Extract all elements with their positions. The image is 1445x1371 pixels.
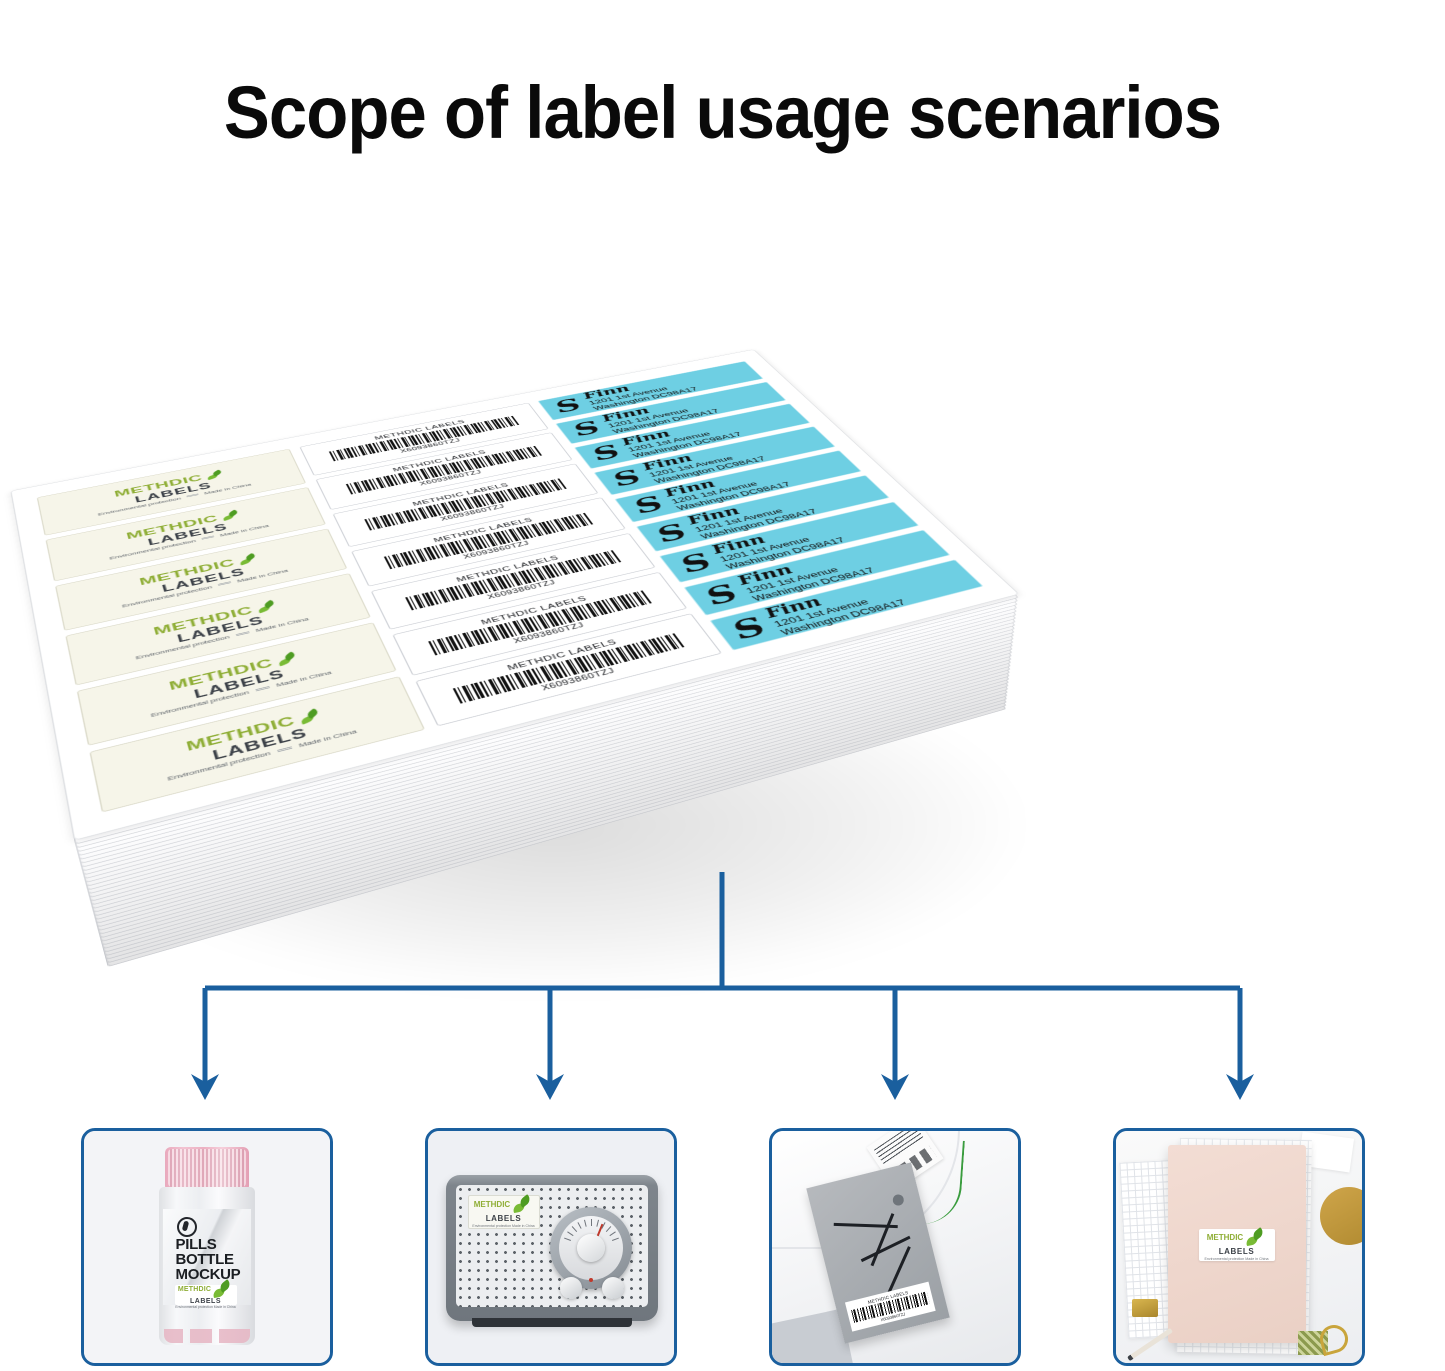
bottle-text-line2: BOTTLE (176, 1252, 241, 1267)
dial-tick (583, 1220, 586, 1227)
sticker-footnote: Environmental protection Made in China (1205, 1257, 1269, 1261)
radio-speaker-grille: METHDIC LABELS Environmental protection … (456, 1185, 648, 1307)
monogram-icon: S (608, 467, 647, 489)
dial-tick (564, 1238, 571, 1241)
bottle-text-line3: MOCKUP (176, 1267, 241, 1282)
sticker-brand-row: METHDIC (474, 1197, 533, 1213)
bottle-cap (165, 1147, 249, 1189)
card-notebook[interactable]: METHDIC LABELS Environmental protection … (1113, 1128, 1365, 1366)
dial-tick (571, 1226, 576, 1232)
label-sheet-stack: METHDICLABELSEnvironmental protectionMad… (0, 230, 1445, 890)
monogram-icon: S (551, 397, 587, 416)
radio-methdic-sticker: METHDIC LABELS Environmental protection … (468, 1195, 540, 1229)
sticker-footnote: Environmental protection Made in China (472, 1224, 534, 1228)
dial-led-icon (589, 1278, 593, 1282)
radio-knob-right (602, 1277, 624, 1299)
leaf-icon (275, 652, 301, 667)
divider-icon (277, 746, 292, 752)
leaf-icon (220, 510, 243, 521)
dial-knob (577, 1234, 605, 1262)
leaf-icon (1246, 1230, 1266, 1246)
monogram-icon: S (588, 443, 626, 464)
bottle-text-line1: PILLS (176, 1237, 241, 1252)
card-retro-radio[interactable]: METHDIC LABELS Environmental protection … (425, 1128, 677, 1366)
radio-tuning-dial (550, 1207, 632, 1289)
page-title: Scope of label usage scenarios (51, 72, 1395, 154)
divider-icon (255, 686, 270, 692)
bottle-product-text: PILLS BOTTLE MOCKUP (176, 1237, 241, 1282)
dial-tick (609, 1231, 615, 1236)
pencil-sharpener (1132, 1299, 1158, 1317)
monogram-icon: S (629, 493, 669, 516)
sticker-footnote: Environmental protection Made in China (175, 1305, 235, 1309)
radio-foot (472, 1318, 632, 1327)
sticker-brand: METHDIC (178, 1286, 211, 1293)
connector-svg (0, 860, 1445, 1130)
dial-tick (591, 1219, 592, 1226)
bottle-pills (164, 1329, 250, 1343)
monogram-icon: S (675, 550, 718, 576)
bottle-brand-icon (177, 1217, 197, 1237)
card-pills-bottle[interactable]: PILLS BOTTLE MOCKUP METHDIC LABELS Envir… (81, 1128, 333, 1366)
bottle-methdic-sticker: METHDIC LABELS Environmental protection … (175, 1285, 237, 1305)
bottle-wrap-label: PILLS BOTTLE MOCKUP METHDIC LABELS Envir… (163, 1209, 251, 1305)
leaf-icon (297, 709, 324, 725)
leaf-icon (205, 470, 227, 480)
leaf-icon (237, 553, 261, 565)
leaf-icon (513, 1197, 533, 1213)
flow-connector (0, 860, 1445, 1130)
divider-icon (218, 581, 231, 586)
usage-scenario-cards: PILLS BOTTLE MOCKUP METHDIC LABELS Envir… (0, 1128, 1445, 1371)
card-clothing-hang-tag[interactable]: METHDIC LABELS X6093860TZJ (769, 1128, 1021, 1366)
dial-tick (605, 1226, 610, 1232)
divider-icon (186, 494, 198, 498)
leaf-icon (255, 600, 280, 613)
sticker-sub: LABELS (1219, 1247, 1255, 1256)
monogram-icon: S (699, 581, 744, 609)
dial-tick (596, 1220, 599, 1227)
sticker-sub: LABELS (486, 1214, 522, 1223)
dial-tick (567, 1231, 573, 1236)
radio-knob-left (560, 1277, 582, 1299)
sticker-sub: LABELS (190, 1298, 221, 1305)
retro-radio-image: METHDIC LABELS Environmental protection … (446, 1175, 658, 1321)
dial-tick (612, 1238, 619, 1241)
monogram-icon: S (569, 419, 606, 439)
notebook-cover: METHDIC LABELS Environmental protection … (1168, 1145, 1306, 1343)
sticker-brand-row: METHDIC (1207, 1230, 1266, 1246)
sticker-brand: METHDIC (474, 1200, 510, 1209)
divider-icon (201, 536, 214, 540)
sticker-brand: METHDIC (1207, 1233, 1243, 1242)
pills-bottle-image: PILLS BOTTLE MOCKUP METHDIC LABELS Envir… (159, 1147, 255, 1347)
monogram-icon: S (726, 614, 773, 644)
notebook-methdic-sticker: METHDIC LABELS Environmental protection … (1199, 1229, 1275, 1261)
sticker-brand-row: METHDIC (178, 1282, 233, 1298)
leaf-icon (213, 1282, 233, 1298)
monogram-icon: S (651, 521, 693, 546)
divider-icon (236, 631, 250, 636)
dial-tick (577, 1222, 581, 1229)
